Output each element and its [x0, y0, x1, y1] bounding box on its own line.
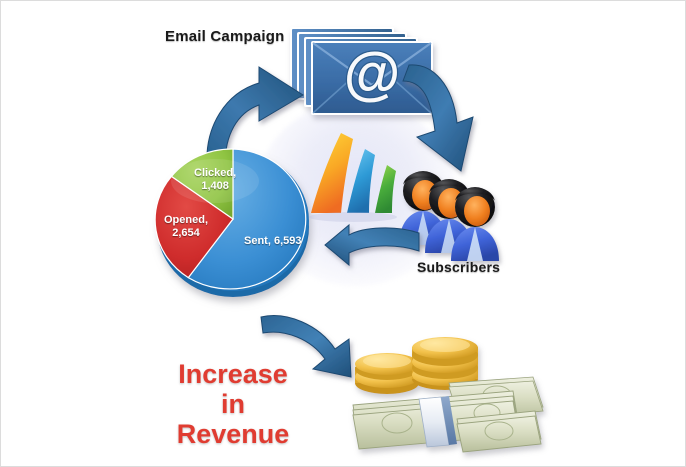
pie-label-sent: Sent, 6,593 [244, 235, 301, 248]
pie-label-opened-category: Opened [164, 214, 205, 226]
label-in: in [153, 389, 313, 419]
pie-label-comma-2: , [233, 167, 236, 179]
page-title-email-campaign: Email Campaign [165, 28, 285, 45]
money-stack-icon [337, 331, 552, 456]
arrow-subscribers-to-pie-icon [323, 223, 423, 279]
report-peak-yellow [311, 133, 353, 213]
label-revenue: Revenue [153, 419, 313, 449]
report-peak-blue [347, 149, 375, 213]
pie-label-opened-value: 2,654 [172, 227, 200, 239]
reporting-chart-icon [301, 127, 406, 227]
pie-label-comma: , [205, 214, 208, 226]
label-subscribers: Subscribers [417, 259, 500, 275]
pie-label-clicked-category: Clicked [194, 167, 233, 179]
pie-label-opened: Opened, 2,654 [164, 214, 208, 240]
pie-label-clicked: Clicked, 1,408 [194, 167, 236, 193]
gold-coins-icon-left [355, 353, 419, 394]
at-symbol-icon: @ [344, 41, 401, 106]
infographic-canvas: @ Email Campaign [0, 0, 686, 467]
label-increase: Increase [153, 359, 313, 389]
pie-label-clicked-value: 1,408 [201, 180, 229, 192]
label-increase-in-revenue: Increase in Revenue [153, 359, 313, 449]
